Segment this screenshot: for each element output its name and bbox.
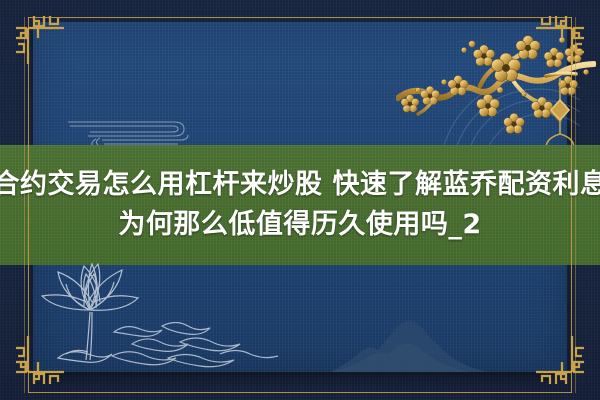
title-line-2: 为何那么低值得历久使用吗_2: [118, 206, 481, 244]
frame-line-bottom: [28, 392, 572, 393]
meander-corner-icon-bottom-left: [12, 334, 66, 388]
meander-corner-icon-top-left: [12, 12, 66, 66]
banner-title: 合约交易怎么用杠杆来炒股 快速了解蓝乔配资利息 为何那么低值得历久使用吗_2: [0, 145, 600, 265]
frame-line-top: [28, 17, 572, 18]
meander-corner-icon-top-right: [534, 12, 588, 66]
banner-image: 合约交易怎么用杠杆来炒股 快速了解蓝乔配资利息 为何那么低值得历久使用吗_2: [0, 0, 600, 400]
title-line-1: 合约交易怎么用杠杆来炒股 快速了解蓝乔配资利息: [0, 166, 600, 204]
meander-corner-icon-bottom-right: [534, 334, 588, 388]
